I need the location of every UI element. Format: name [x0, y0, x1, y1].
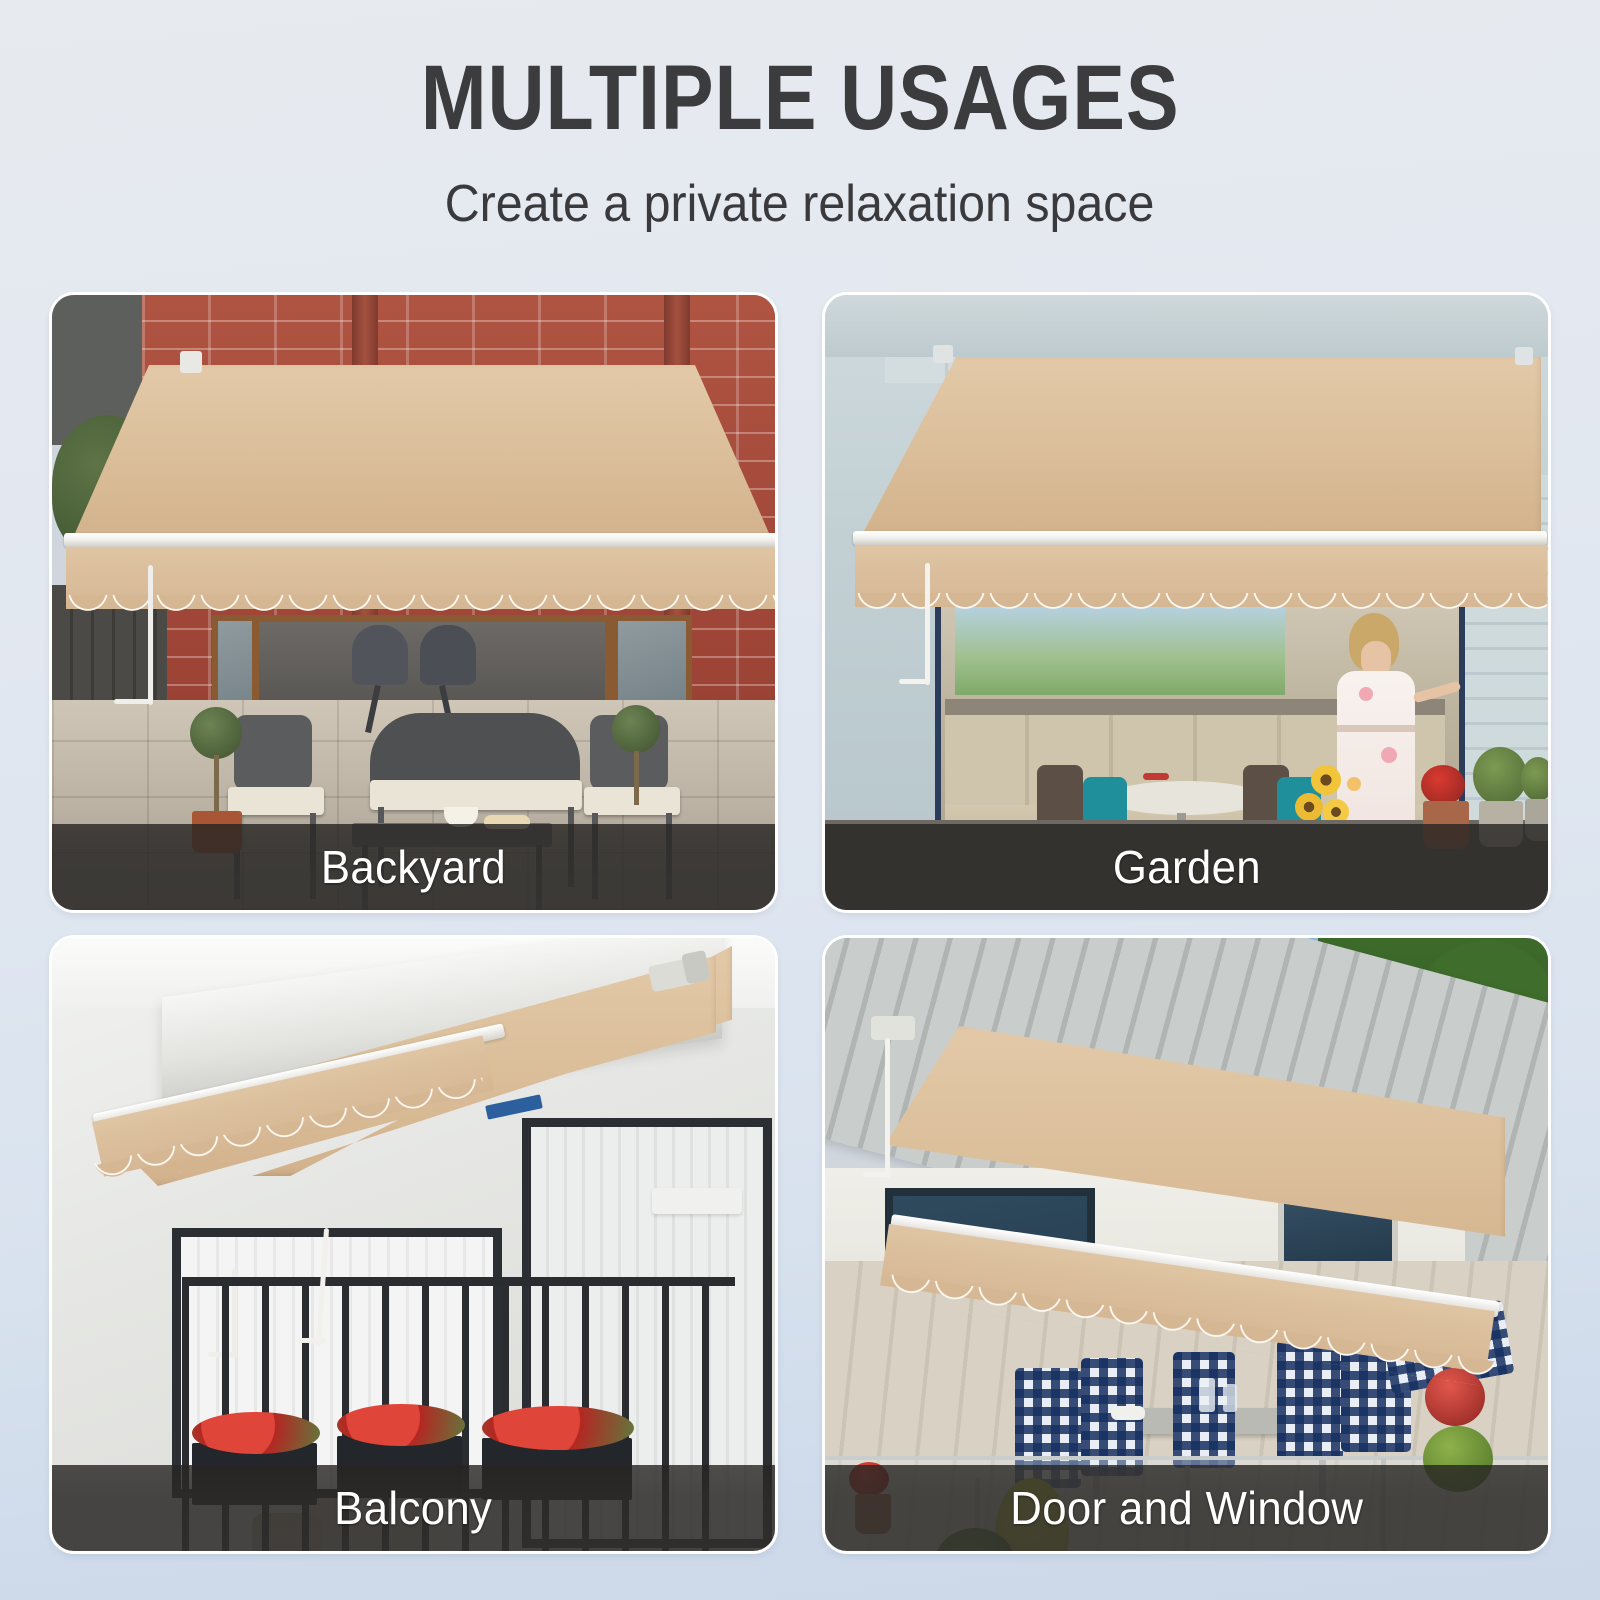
scene-door-window-photo	[825, 938, 1548, 1551]
page-title: MULTIPLE USAGES	[421, 52, 1180, 144]
usage-panel-garden[interactable]: Garden	[825, 295, 1548, 910]
usage-panel-door-and-window[interactable]: Door and Window	[825, 938, 1548, 1551]
header: MULTIPLE USAGES Create a private relaxat…	[0, 0, 1600, 270]
scene-balcony-photo	[52, 938, 775, 1551]
usage-panel-grid: Backyard	[52, 295, 1548, 1551]
scene-garden-photo	[825, 295, 1548, 910]
usage-panel-balcony[interactable]: Balcony	[52, 938, 775, 1551]
product-infographic: MULTIPLE USAGES Create a private relaxat…	[0, 0, 1600, 1600]
usage-panel-backyard[interactable]: Backyard	[52, 295, 775, 910]
page-subtitle: Create a private relaxation space	[445, 178, 1155, 230]
scene-backyard-photo	[52, 295, 775, 910]
